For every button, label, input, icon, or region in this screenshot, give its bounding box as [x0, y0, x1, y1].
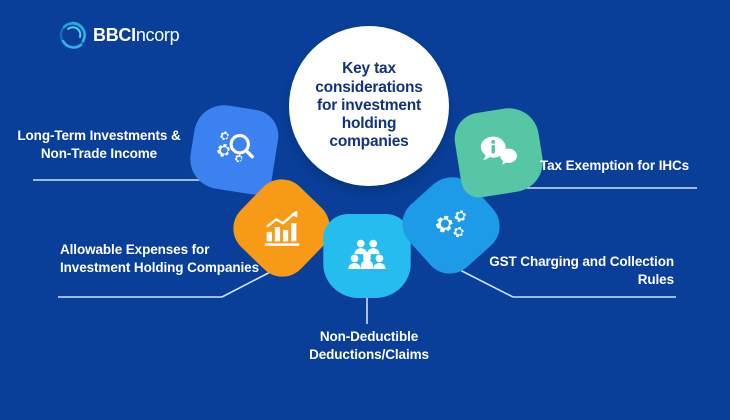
label-tax-exemption: Tax Exemption for IHCs [540, 157, 720, 175]
brand-name-rest: ncorp [136, 25, 180, 45]
node-long-term[interactable] [192, 107, 276, 191]
label-long-term: Long-Term Investments & Non-Trade Income [14, 127, 184, 163]
node-tax-exemption[interactable] [457, 110, 541, 194]
people-group-icon [344, 233, 390, 279]
center-topic-circle: Key tax considerations for investment ho… [289, 26, 449, 186]
brand-logo: BBCIncorp [58, 20, 179, 50]
label-allowable: Allowable Expenses for Investment Holdin… [60, 241, 260, 277]
label-gst: GST Charging and Collection Rules [488, 253, 674, 289]
bar-chart-trend-icon [259, 205, 305, 251]
center-topic-title: Key tax considerations for investment ho… [304, 60, 434, 151]
bbcincorp-swirl-logo-icon [58, 20, 88, 50]
node-non-deductible[interactable] [325, 214, 409, 298]
brand-name-bold: BBCI [93, 25, 136, 45]
gears-magnifier-icon [211, 126, 257, 172]
brand-wordmark: BBCIncorp [93, 25, 179, 46]
gears-icon [428, 202, 474, 248]
info-chat-bubbles-icon [476, 129, 522, 175]
label-non-deductible: Non-Deductible Deductions/Claims [278, 328, 460, 364]
infographic-canvas: BBCIncorp Key tax considerations for inv… [0, 0, 730, 420]
